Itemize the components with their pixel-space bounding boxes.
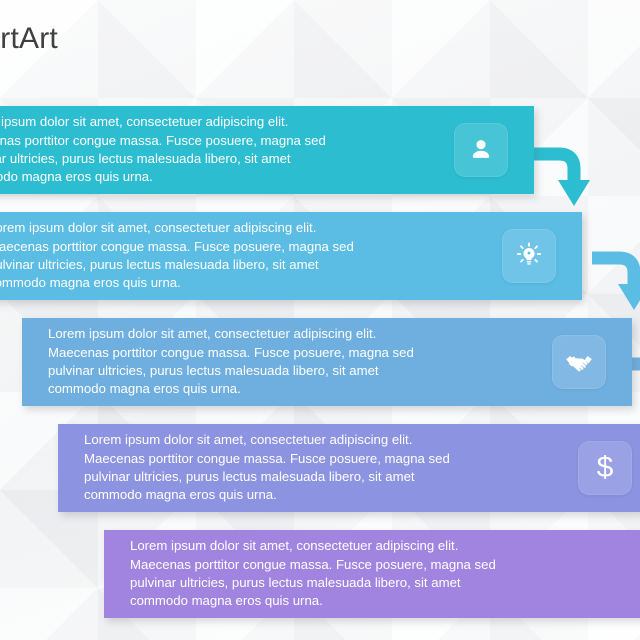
step-3-text: Lorem ipsum dolor sit amet, consectetuer… — [22, 325, 552, 399]
step-row-2[interactable]: Lorem ipsum dolor sit amet, consectetuer… — [0, 212, 582, 300]
step-row-4[interactable]: Lorem ipsum dolor sit amet, consectetuer… — [58, 424, 640, 512]
connector-step2-to-step3 — [592, 238, 640, 314]
lightbulb-icon — [502, 229, 556, 283]
person-icon — [454, 123, 508, 177]
step-row-3[interactable]: Lorem ipsum dolor sit amet, consectetuer… — [22, 318, 632, 406]
handshake-icon — [552, 335, 606, 389]
dollar-icon: $ — [578, 441, 632, 495]
slide-canvas: SmartArt Lorem ipsum dolor sit amet, con… — [0, 0, 640, 640]
step-row-5[interactable]: Lorem ipsum dolor sit amet, consectetuer… — [104, 530, 640, 618]
page-title: SmartArt — [0, 22, 58, 56]
step-2-text: Lorem ipsum dolor sit amet, consectetuer… — [0, 219, 502, 293]
step-1-text: Lorem ipsum dolor sit amet, consectetuer… — [0, 113, 454, 187]
step-4-text: Lorem ipsum dolor sit amet, consectetuer… — [58, 431, 578, 505]
step-row-1[interactable]: Lorem ipsum dolor sit amet, consectetuer… — [0, 106, 534, 194]
step-5-text: Lorem ipsum dolor sit amet, consectetuer… — [104, 537, 640, 611]
connector-step1-to-step2 — [532, 134, 602, 210]
dollar-glyph: $ — [597, 453, 614, 483]
